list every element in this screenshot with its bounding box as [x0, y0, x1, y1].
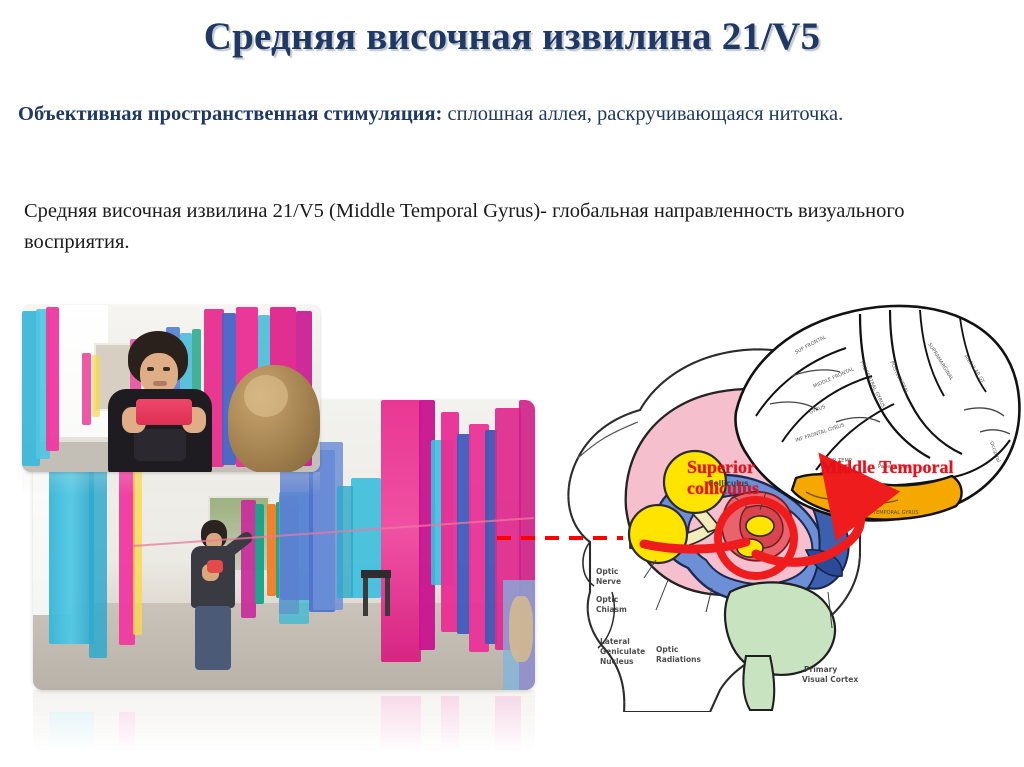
room-scene: [22, 305, 320, 472]
inset-photo-reflection: [22, 472, 320, 496]
paragraph-stimulation: Объективная пространственная стимуляция:…: [18, 99, 993, 130]
person-figure: [100, 331, 220, 472]
scene-object: [361, 570, 391, 578]
annotation-superior: Superior: [687, 457, 755, 478]
label-primary-visual-cortex: Primary: [804, 665, 837, 674]
svg-text:Radiations: Radiations: [656, 655, 701, 664]
svg-text:Geniculate: Geniculate: [600, 647, 645, 656]
red-dashed-connector: [497, 536, 623, 540]
visual-pathway-brain-diagram: SUP FRONTAL MIDDLE FRONTAL GYRUS INF FRO…: [560, 292, 1024, 712]
streamer: [241, 500, 256, 618]
svg-text:Nerve: Nerve: [596, 577, 621, 586]
optic-nerve-node: [629, 505, 687, 563]
streamer: [255, 504, 264, 604]
scene-object: [363, 576, 368, 616]
annotation-middle-temporal: Middle Temporal: [820, 457, 954, 478]
page-title: Средняя височная извилина 21/V5: [0, 14, 1024, 59]
streamer: [267, 504, 276, 596]
svg-text:Chiasm: Chiasm: [596, 605, 627, 614]
paragraph-lead: Объективная пространственная стимуляция:: [18, 103, 442, 125]
scene-object: [509, 596, 533, 662]
svg-text:Nucleus: Nucleus: [600, 657, 634, 666]
presentation-slide: Средняя височная извилина 21/V5 Объектив…: [0, 0, 1024, 767]
label-optic-nerve: Optic: [596, 567, 618, 576]
photo-reflection: [33, 690, 535, 752]
streamer: [82, 353, 91, 425]
svg-text:Visual Cortex: Visual Cortex: [802, 675, 858, 684]
streamer: [337, 486, 353, 598]
lateral-cortex: SUP FRONTAL MIDDLE FRONTAL GYRUS INF FRO…: [736, 306, 1020, 521]
brain-diagram-svg: SUP FRONTAL MIDDLE FRONTAL GYRUS INF FRO…: [560, 292, 1024, 712]
child-head-highlight: [244, 375, 288, 417]
scene-object: [385, 578, 390, 616]
paragraph-rest: сплошная аллея, раскручивающаяся ниточка…: [442, 103, 843, 125]
label-optic-chiasm: Optic: [596, 595, 618, 604]
streamer: [46, 307, 59, 451]
streamer: [92, 355, 100, 417]
label-optic-radiations: Optic: [656, 645, 678, 654]
streamer: [381, 400, 421, 662]
paragraph-gyrus-description: Средняя височная извилина 21/V5 (Middle …: [24, 196, 999, 258]
photo-woman-with-child: [22, 305, 320, 472]
annotation-colliculus: colliculus: [687, 478, 759, 499]
label-lgn: Lateral: [600, 637, 630, 646]
